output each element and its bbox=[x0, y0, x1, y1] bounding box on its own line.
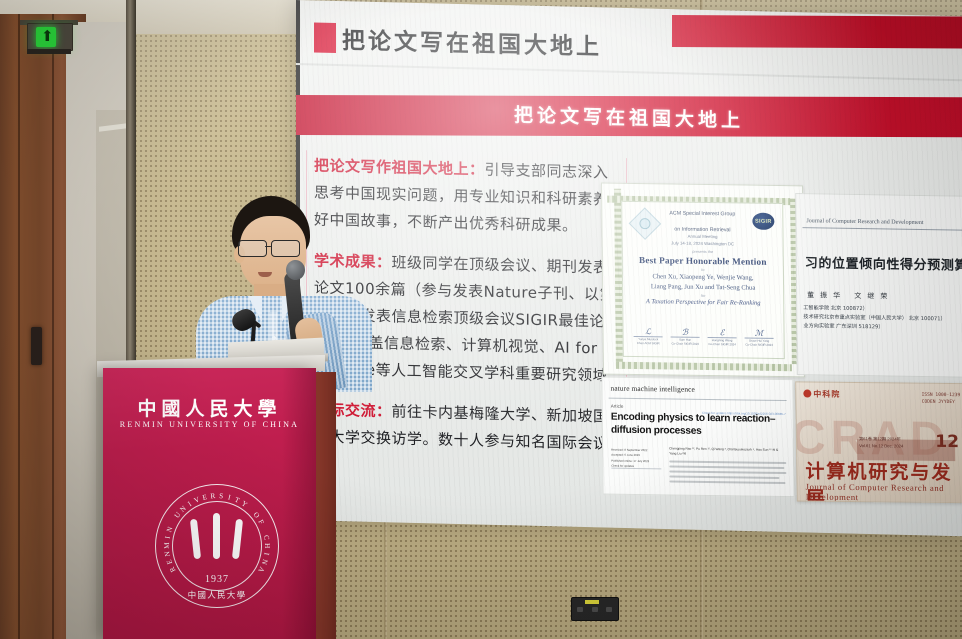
acm-badge-label: SIGIR bbox=[752, 213, 774, 230]
crad-volume-info: 第61卷 第12期 2024年 Vol.61 No.12 Dec. 2024 bbox=[859, 435, 903, 449]
speaker-glasses bbox=[238, 240, 308, 255]
signature-ink: ℳ bbox=[742, 328, 775, 337]
seal-ring-letter: F bbox=[256, 518, 265, 525]
signature-ink: ℬ bbox=[668, 327, 701, 336]
podium-university-name-en: RENMIN UNIVERSITY OF CHINA bbox=[103, 420, 316, 429]
nmi-article-type: Article bbox=[611, 404, 624, 409]
glyph-stroke bbox=[232, 519, 243, 560]
seal-ring-letter: U bbox=[173, 511, 183, 520]
seal-ring-letter: O bbox=[252, 511, 262, 520]
paragraph-1-lead: 把论文写作祖国大地上： bbox=[314, 156, 485, 178]
seal-ring-letter: I bbox=[227, 493, 231, 501]
running-person-icon: ⬆ bbox=[41, 29, 52, 45]
door-panel-line bbox=[52, 14, 54, 639]
lectern-podium: 中國人民大學 RENMIN UNIVERSITY OF CHINA RENMIN… bbox=[103, 368, 316, 639]
crad-coden: CODEN JYYDEY bbox=[922, 399, 961, 406]
cn-paper-rule bbox=[803, 227, 962, 231]
certificate-paper-title: A Taxation Perspective for Fair Re-Ranki… bbox=[623, 298, 783, 307]
seal-ring-letter: T bbox=[233, 496, 240, 505]
certificate-inner: SIGIR ACM Special Interest Group on Info… bbox=[621, 201, 785, 359]
signature-role: Co-Chair SIGIR 2024 bbox=[669, 341, 702, 345]
glasses-lens-right bbox=[271, 240, 300, 257]
seal-year: 1937 bbox=[156, 574, 278, 585]
crad-issn-block: ISSN 1000-1239 CODEN JYYDEY bbox=[922, 392, 961, 406]
crad-logo-text: 中科院 bbox=[813, 390, 840, 399]
slide-header-title: 把论文写在祖国大地上 bbox=[342, 21, 602, 61]
seal-three-people-glyph-icon bbox=[190, 511, 244, 559]
signature-block: ℰ Hongning Wang Co-Chair SIGIR 2024 bbox=[705, 328, 738, 346]
seal-ring-letter: E bbox=[202, 493, 208, 502]
nmi-abstract-line bbox=[669, 465, 784, 469]
chinese-journal-paper: Journal of Computer Research and Develop… bbox=[795, 193, 962, 378]
exit-icon: ⬆ bbox=[36, 27, 56, 47]
signature-block: ℒ Yuriya Murdock Chair ACM SIGIR bbox=[632, 327, 665, 345]
wall-plate-port[interactable] bbox=[592, 607, 598, 612]
signature-role: Co-Chair SIGIR 2024 bbox=[743, 343, 776, 347]
sigir-certificate: SIGIR ACM Special Interest Group on Info… bbox=[601, 183, 805, 378]
seal-ring-letter: C bbox=[262, 534, 271, 540]
emergency-exit-sign: ⬆ bbox=[27, 23, 73, 51]
presentation-photo-scene: ⬆ 把论文写在祖国大地上 把论文写在祖国大地上 把论文写作祖国大地上：引导支部同… bbox=[0, 0, 962, 639]
nmi-paper-title: Encoding physics to learn reaction–diffu… bbox=[611, 412, 785, 439]
nature-machine-intelligence-paper: nature machine intelligence Article Chec… bbox=[601, 376, 794, 497]
university-seal: RENMIN UNIVERSITY OF CHINA 1937 中國人民大學 bbox=[155, 484, 279, 608]
seal-ring-letter: R bbox=[168, 565, 177, 573]
seal-ring-letter: I bbox=[164, 536, 172, 540]
signature-block: ℬ Sam Han Co-Chair SIGIR 2024 bbox=[668, 327, 701, 345]
glasses-lens-left bbox=[238, 240, 267, 257]
podium-side-panel bbox=[316, 372, 336, 639]
crad-logo-dot-icon bbox=[803, 390, 811, 398]
seal-ring-letter: N bbox=[260, 558, 269, 565]
signature-role: Co-Chair SIGIR 2024 bbox=[706, 342, 739, 346]
crad-issue-number: 12 bbox=[935, 432, 959, 452]
crad-title-en: Journal of Computer Research and Develop… bbox=[806, 482, 962, 504]
seal-ring-letter: I bbox=[187, 500, 193, 508]
wall-light-reflection bbox=[99, 123, 127, 131]
certificate-signature-row: ℒ Yuriya Murdock Chair ACM SIGIR ℬ Sam H… bbox=[632, 327, 776, 347]
nmi-metadata-column: Received: 8 September 2022 Accepted: 6 J… bbox=[611, 448, 663, 470]
glyph-stroke bbox=[190, 519, 201, 560]
seal-ring-letter: E bbox=[165, 559, 174, 566]
podium-university-name-cn: 中國人民大學 bbox=[103, 394, 316, 421]
seal-ring-letter: H bbox=[263, 543, 271, 548]
seal-ring-letter: R bbox=[210, 492, 215, 500]
seal-ring-letter: S bbox=[219, 492, 224, 500]
door-handle[interactable] bbox=[31, 327, 42, 365]
nmi-abstract-line bbox=[669, 470, 786, 474]
nmi-journal-brand: nature machine intelligence bbox=[610, 384, 694, 394]
crad-volume-en: Vol.61 No.12 Dec. 2024 bbox=[859, 442, 903, 449]
seal-ring-letter: N bbox=[163, 551, 172, 557]
acm-badge-icon: SIGIR bbox=[752, 213, 774, 230]
signature-role: Chair ACM SIGIR bbox=[632, 341, 665, 345]
signature-block: ℳ Grace Hui Yang Co-Chair SIGIR 2024 bbox=[742, 328, 775, 346]
wall-plate-port[interactable] bbox=[577, 607, 583, 612]
nmi-abstract-lines bbox=[669, 460, 786, 487]
header-red-square bbox=[314, 22, 336, 53]
nmi-abstract-line bbox=[669, 475, 779, 479]
signature-ink: ℰ bbox=[705, 328, 738, 337]
seal-ring-letter: N bbox=[179, 504, 188, 513]
certificate-award-title: Best Paper Honorable Mention bbox=[623, 255, 783, 267]
seal-ring-letter: A bbox=[256, 565, 266, 573]
nmi-abstract-line bbox=[669, 460, 786, 464]
door-panel-line bbox=[18, 14, 20, 639]
crad-journal-cover: CRAD 中科院 ISSN 1000-1239 CODEN JYYDEY 第61… bbox=[795, 381, 962, 503]
crad-publisher-logo: 中科院 bbox=[803, 389, 840, 400]
header-red-bar bbox=[672, 15, 962, 49]
wall-socket-plate[interactable] bbox=[571, 597, 619, 621]
seal-ring-letter: Y bbox=[240, 499, 249, 509]
exit-sign-base bbox=[27, 49, 71, 54]
cn-paper-title: 习的位置倾向性得分预测算法 bbox=[805, 252, 962, 274]
seal-ring-letter: M bbox=[163, 542, 171, 548]
cn-paper-affiliations: 工智能学院 北京 100872） 技术研究北京市重点实验室（中国人民大学） 北京… bbox=[803, 304, 962, 334]
projection-screen: 把论文写在祖国大地上 把论文写在祖国大地上 把论文写作祖国大地上：引导支部同志深… bbox=[296, 0, 962, 536]
signature-ink: ℒ bbox=[632, 327, 665, 336]
wall-plate-label bbox=[585, 600, 599, 604]
seal-ring-letter: N bbox=[165, 526, 174, 534]
glyph-stroke bbox=[213, 513, 220, 559]
cn-paper-journal-name: Journal of Computer Research and Develop… bbox=[806, 218, 962, 227]
nmi-author-list: Chengping Rao ¹², Pu Ren ¹², Qi Wang ³, … bbox=[669, 446, 786, 458]
certificate-presents-label: presents the bbox=[623, 249, 783, 255]
slide-title-text: 把论文写在祖国大地上 bbox=[514, 100, 744, 133]
nmi-abstract-line bbox=[669, 480, 785, 484]
cn-paper-authors: 董振华 文继荣 bbox=[807, 290, 893, 301]
wall-plate-port[interactable] bbox=[606, 607, 612, 612]
seal-ring-letter: I bbox=[262, 552, 270, 556]
header-hairline bbox=[296, 63, 962, 81]
seal-text-cn: 中國人民大學 bbox=[156, 589, 278, 601]
slide-title-ribbon: 把论文写在祖国大地上 bbox=[296, 95, 962, 137]
certificate-date-location: July 14-18, 2024 Washington DC bbox=[623, 239, 783, 248]
seal-ring-letter: V bbox=[193, 495, 201, 504]
paragraph-3: 国际交流：前往卡内基梅隆大学、新加坡国立大学交换访学。数十人参与知名国际会议。 bbox=[314, 396, 624, 458]
nmi-rule bbox=[609, 398, 787, 401]
